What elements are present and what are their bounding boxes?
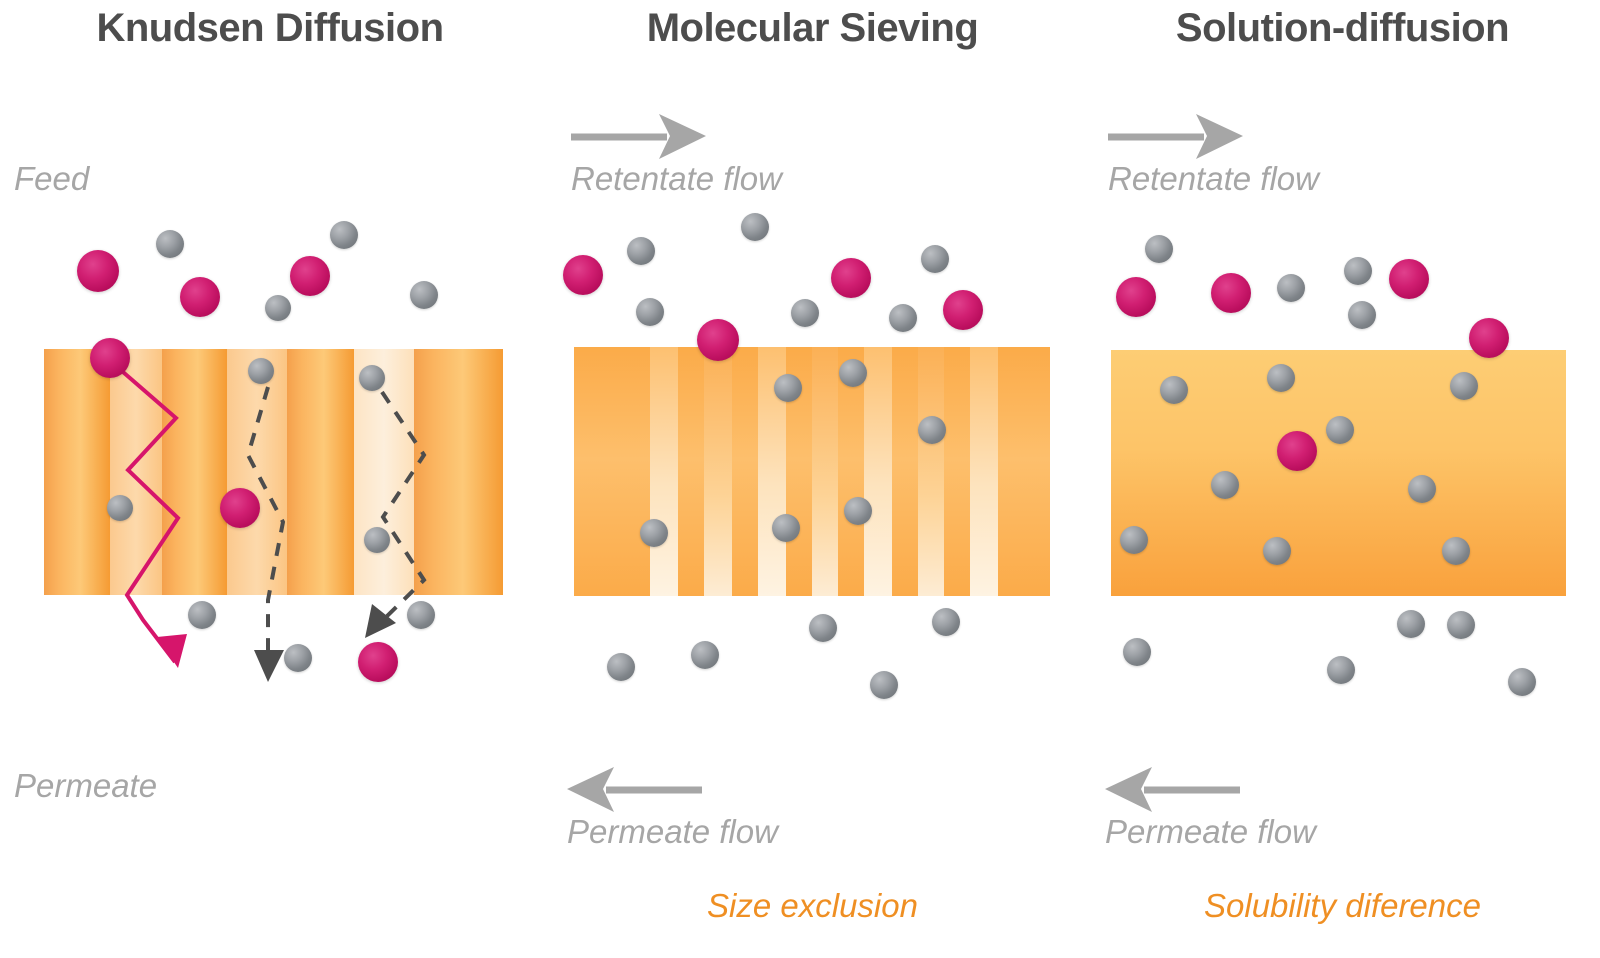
small-molecule-sphere-icon — [1397, 610, 1425, 638]
small-molecule-sphere-icon — [107, 495, 133, 521]
large-molecule-sphere-icon — [77, 250, 119, 292]
figure-canvas: Knudsen Diffusion Feed Permeate — [0, 0, 1600, 958]
small-molecule-sphere-icon — [1326, 416, 1354, 444]
small-molecule-sphere-icon — [1267, 364, 1295, 392]
large-molecule-sphere-icon — [1211, 273, 1251, 313]
small-molecule-sphere-icon — [410, 281, 438, 309]
large-molecule-sphere-icon — [220, 488, 260, 528]
small-molecule-sphere-icon — [870, 671, 898, 699]
particle-layer — [0, 0, 1600, 958]
small-molecule-sphere-icon — [691, 641, 719, 669]
large-molecule-sphere-icon — [1116, 277, 1156, 317]
large-molecule-sphere-icon — [831, 258, 871, 298]
small-molecule-sphere-icon — [1263, 537, 1291, 565]
small-molecule-sphere-icon — [627, 237, 655, 265]
small-molecule-sphere-icon — [1408, 475, 1436, 503]
small-molecule-sphere-icon — [741, 213, 769, 241]
small-molecule-sphere-icon — [1211, 471, 1239, 499]
small-molecule-sphere-icon — [921, 245, 949, 273]
small-molecule-sphere-icon — [772, 514, 800, 542]
large-molecule-sphere-icon — [943, 290, 983, 330]
small-molecule-sphere-icon — [1327, 656, 1355, 684]
small-molecule-sphere-icon — [839, 359, 867, 387]
large-molecule-sphere-icon — [358, 642, 398, 682]
small-molecule-sphere-icon — [889, 304, 917, 332]
large-molecule-sphere-icon — [1389, 259, 1429, 299]
small-molecule-sphere-icon — [1123, 638, 1151, 666]
large-molecule-sphere-icon — [180, 277, 220, 317]
small-molecule-sphere-icon — [640, 519, 668, 547]
large-molecule-sphere-icon — [1469, 318, 1509, 358]
small-molecule-sphere-icon — [359, 365, 385, 391]
small-molecule-sphere-icon — [774, 374, 802, 402]
small-molecule-sphere-icon — [284, 644, 312, 672]
small-molecule-sphere-icon — [918, 416, 946, 444]
large-molecule-sphere-icon — [90, 338, 130, 378]
small-molecule-sphere-icon — [407, 601, 435, 629]
small-molecule-sphere-icon — [1442, 537, 1470, 565]
large-molecule-sphere-icon — [290, 256, 330, 296]
small-molecule-sphere-icon — [636, 298, 664, 326]
large-molecule-sphere-icon — [563, 255, 603, 295]
small-molecule-sphere-icon — [188, 601, 216, 629]
small-molecule-sphere-icon — [1508, 668, 1536, 696]
small-molecule-sphere-icon — [1160, 376, 1188, 404]
small-molecule-sphere-icon — [330, 221, 358, 249]
small-molecule-sphere-icon — [265, 295, 291, 321]
small-molecule-sphere-icon — [248, 358, 274, 384]
large-molecule-sphere-icon — [697, 319, 739, 361]
small-molecule-sphere-icon — [156, 230, 184, 258]
small-molecule-sphere-icon — [607, 653, 635, 681]
small-molecule-sphere-icon — [791, 299, 819, 327]
small-molecule-sphere-icon — [1450, 372, 1478, 400]
small-molecule-sphere-icon — [809, 614, 837, 642]
small-molecule-sphere-icon — [1344, 257, 1372, 285]
small-molecule-sphere-icon — [1447, 611, 1475, 639]
small-molecule-sphere-icon — [364, 527, 390, 553]
small-molecule-sphere-icon — [1120, 526, 1148, 554]
small-molecule-sphere-icon — [844, 497, 872, 525]
small-molecule-sphere-icon — [1348, 301, 1376, 329]
large-molecule-sphere-icon — [1277, 431, 1317, 471]
small-molecule-sphere-icon — [1277, 274, 1305, 302]
small-molecule-sphere-icon — [1145, 235, 1173, 263]
small-molecule-sphere-icon — [932, 608, 960, 636]
